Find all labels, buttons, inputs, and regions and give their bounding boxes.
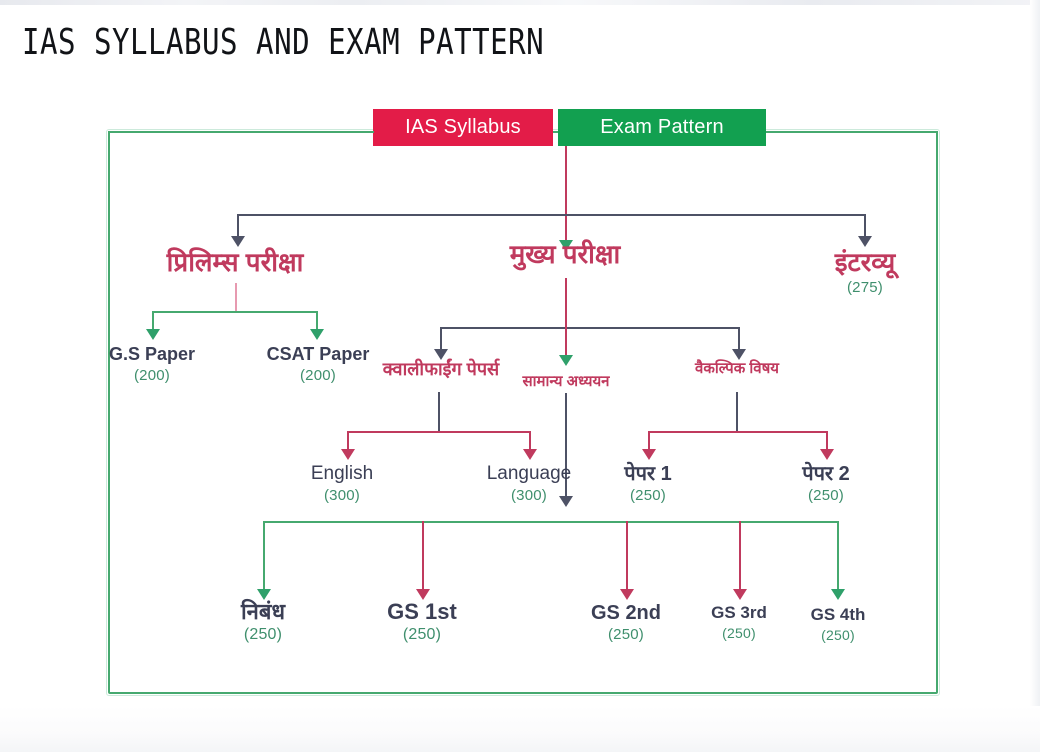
node-gs2[interactable]: GS 2nd (250) — [568, 602, 684, 643]
node-gs4-label: GS 4th — [789, 606, 887, 625]
scan-edge-right — [1030, 0, 1040, 752]
screenshot-canvas: IAS SYLLABUS AND EXAM PATTERN IAS Syllab… — [0, 0, 1040, 752]
connector-qualifying-bar — [347, 431, 531, 433]
connector-bottom-bar — [263, 521, 839, 523]
node-paper2-score: (250) — [766, 487, 886, 504]
node-interview-score: (275) — [775, 279, 955, 296]
node-optional[interactable]: वैकल्पिक विषय — [662, 361, 812, 378]
scan-edge-bottom — [0, 706, 1040, 752]
arrow-to-gs2 — [620, 589, 634, 600]
node-gen-studies-label: सामान्य अध्ययन — [484, 374, 648, 391]
node-gs3[interactable]: GS 3rd (250) — [686, 604, 792, 641]
arrow-to-gen-studies — [559, 355, 573, 366]
node-nibandh-score: (250) — [203, 626, 323, 644]
arrow-to-gs3 — [733, 589, 747, 600]
node-language-score: (300) — [459, 487, 599, 504]
node-nibandh-label: निबंध — [203, 600, 323, 624]
connector-exampattern-to-frame — [786, 131, 938, 133]
connector-frame-to-ias — [108, 131, 374, 133]
node-gs-paper-score: (200) — [82, 367, 222, 384]
connector-ias-drop — [565, 146, 567, 250]
arrow-to-optional — [732, 349, 746, 360]
node-language-label: Language — [459, 464, 599, 485]
node-paper1-score: (250) — [588, 487, 708, 504]
connector-mains-bar — [440, 327, 740, 329]
node-interview-label: इंटरव्यू — [775, 248, 955, 277]
node-gs2-score: (250) — [568, 626, 684, 643]
node-gs4[interactable]: GS 4th (250) — [789, 606, 887, 643]
node-paper1[interactable]: पेपर 1 (250) — [588, 463, 708, 504]
node-gs-paper[interactable]: G.S Paper (200) — [82, 345, 222, 384]
node-gs2-label: GS 2nd — [568, 602, 684, 624]
node-language[interactable]: Language (300) — [459, 464, 599, 504]
connector-mains-drop — [565, 278, 567, 328]
page-title: IAS SYLLABUS AND EXAM PATTERN — [22, 22, 544, 63]
node-interview[interactable]: इंटरव्यू (275) — [775, 248, 955, 296]
arrow-to-gs-paper — [146, 329, 160, 340]
connector-gs4-drop — [837, 521, 839, 593]
connector-prelims-bar — [152, 311, 318, 313]
box-ias-syllabus[interactable]: IAS Syllabus — [373, 109, 553, 146]
connector-gs1-drop — [422, 521, 424, 593]
connector-nibandh-drop — [263, 521, 265, 593]
node-paper1-label: पेपर 1 — [588, 463, 708, 485]
connector-qualifying-stem — [438, 392, 440, 432]
arrow-to-english — [341, 449, 355, 460]
arrow-to-language — [523, 449, 537, 460]
node-mains-label: मुख्य परीक्षा — [465, 240, 665, 269]
node-gs1-label: GS 1st — [362, 600, 482, 624]
node-optional-label: वैकल्पिक विषय — [662, 361, 812, 378]
node-english-score: (300) — [282, 487, 402, 504]
arrow-to-gs4 — [831, 589, 845, 600]
arrow-to-paper1 — [642, 449, 656, 460]
node-english-label: English — [282, 464, 402, 485]
arrow-to-paper2 — [820, 449, 834, 460]
node-gs4-score: (250) — [789, 627, 887, 643]
connector-gs2-drop — [626, 521, 628, 593]
node-paper2-label: पेपर 2 — [766, 463, 886, 485]
node-prelims-label: प्रिलिम्स परीक्षा — [135, 248, 335, 277]
node-mains[interactable]: मुख्य परीक्षा — [465, 240, 665, 269]
arrow-to-prelims — [231, 236, 245, 247]
arrow-to-interview — [858, 236, 872, 247]
node-gen-studies[interactable]: सामान्य अध्ययन — [484, 374, 648, 391]
node-gs-paper-label: G.S Paper — [82, 345, 222, 365]
scan-edge-top — [0, 0, 1040, 5]
node-gs1-score: (250) — [362, 626, 482, 644]
connector-prelims-drop — [235, 283, 237, 313]
connector-optional-bar — [648, 431, 828, 433]
node-gs3-score: (250) — [686, 625, 792, 641]
connector-optional-stem — [736, 392, 738, 432]
node-gs1[interactable]: GS 1st (250) — [362, 600, 482, 644]
connector-gs3-drop — [739, 521, 741, 593]
connector-level1-bar — [237, 214, 866, 216]
node-prelims[interactable]: प्रिलिम्स परीक्षा — [135, 248, 335, 277]
arrow-to-csat-paper — [310, 329, 324, 340]
box-exam-pattern[interactable]: Exam Pattern — [558, 109, 766, 146]
header-box-row: IAS Syllabus Exam Pattern — [373, 109, 766, 146]
node-gs3-label: GS 3rd — [686, 604, 792, 623]
node-english[interactable]: English (300) — [282, 464, 402, 504]
node-paper2[interactable]: पेपर 2 (250) — [766, 463, 886, 504]
node-nibandh[interactable]: निबंध (250) — [203, 600, 323, 644]
